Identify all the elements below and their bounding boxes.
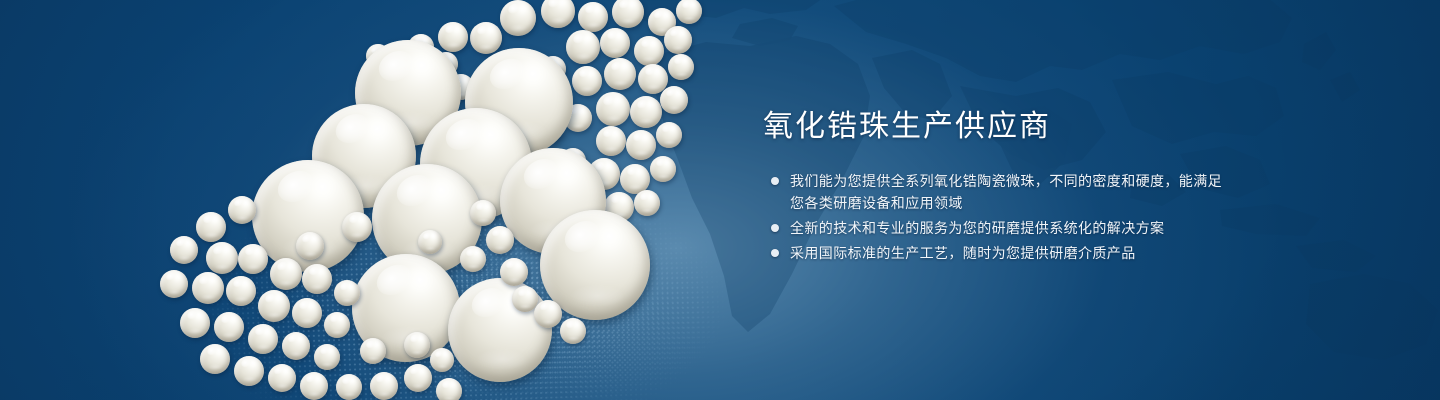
zirconia-bead-cluster-image (0, 0, 760, 400)
list-item: 我们能为您提供全系列氧化锆陶瓷微珠，不同的密度和硬度，能满足您各类研磨设备和应用… (763, 170, 1223, 214)
list-item-text: 采用国际标准的生产工艺，随时为您提供研磨介质产品 (790, 245, 1136, 261)
list-item: 采用国际标准的生产工艺，随时为您提供研磨介质产品 (763, 242, 1223, 264)
bullet-dot-icon (771, 177, 779, 185)
hero-banner: 氧化锆珠生产供应商 我们能为您提供全系列氧化锆陶瓷微珠，不同的密度和硬度，能满足… (0, 0, 1440, 400)
page-title: 氧化锆珠生产供应商 (763, 110, 1051, 144)
feature-bullet-list: 我们能为您提供全系列氧化锆陶瓷微珠，不同的密度和硬度，能满足您各类研磨设备和应用… (763, 170, 1223, 264)
list-item: 全新的技术和专业的服务为您的研磨提供系统化的解决方案 (763, 217, 1223, 239)
bullet-dot-icon (771, 224, 779, 232)
bullet-dot-icon (771, 249, 779, 257)
banner-text-content: 氧化锆珠生产供应商 我们能为您提供全系列氧化锆陶瓷微珠，不同的密度和硬度，能满足… (763, 0, 1323, 400)
list-item-text: 我们能为您提供全系列氧化锆陶瓷微珠，不同的密度和硬度，能满足您各类研磨设备和应用… (790, 173, 1222, 211)
list-item-text: 全新的技术和专业的服务为您的研磨提供系统化的解决方案 (790, 220, 1164, 236)
